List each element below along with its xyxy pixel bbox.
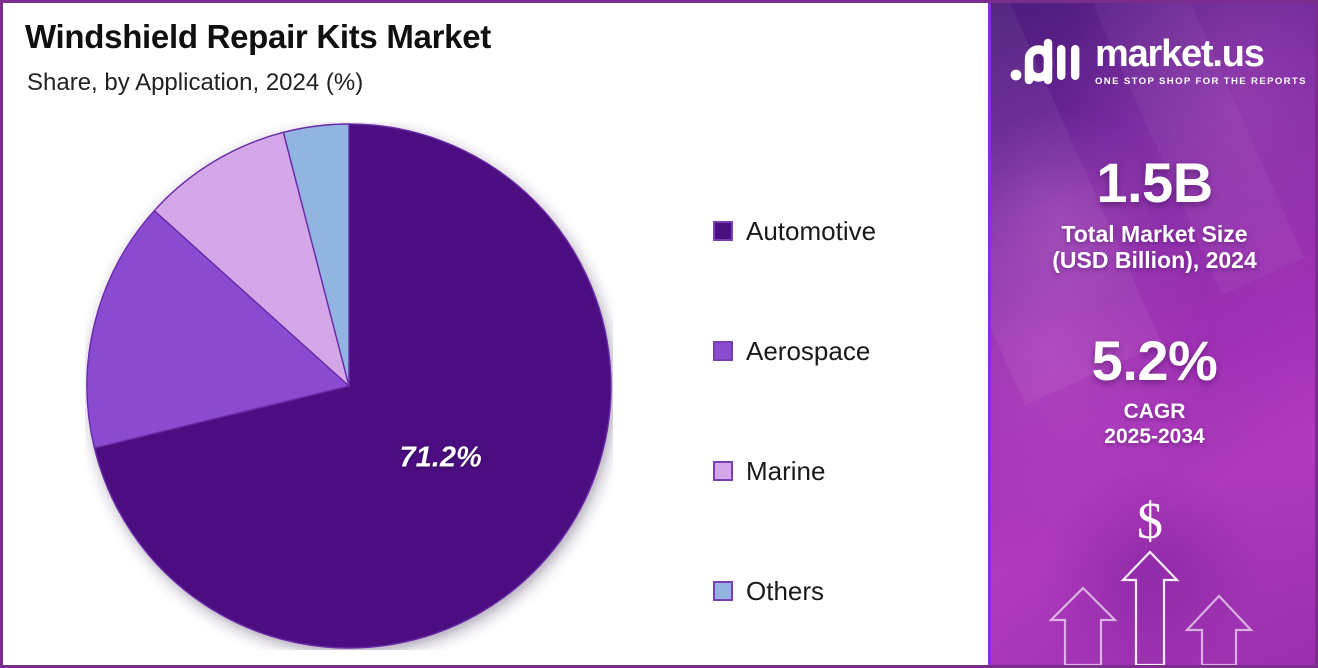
pie-chart: 71.2% (85, 122, 613, 650)
stat-caption-market-size: Total Market Size (USD Billion), 2024 (991, 221, 1315, 273)
stat-caption-cagr: CAGR 2025-2034 (991, 399, 1315, 449)
legend-item-aerospace[interactable]: Aerospace (713, 291, 973, 411)
legend-swatch-icon-others (713, 581, 733, 601)
stat-cagr: 5.2% CAGR 2025-2034 (991, 333, 1315, 449)
up-arrow-icon-right (1187, 596, 1251, 665)
pie-chart-svg (85, 122, 613, 650)
up-arrow-icon-center (1123, 552, 1177, 665)
brand-panel: market.us ONE STOP SHOP FOR THE REPORTS … (988, 3, 1315, 665)
up-arrow-icon-left (1051, 588, 1115, 665)
stat-value-cagr: 5.2% (991, 333, 1315, 389)
legend-swatch-icon-automotive (713, 221, 733, 241)
chart-legend: Automotive Aerospace Marine Others (713, 171, 973, 651)
legend-label-automotive: Automotive (746, 216, 876, 247)
page-title: Windshield Repair Kits Market (25, 18, 491, 56)
legend-item-others[interactable]: Others (713, 531, 973, 651)
brand-wordmark: market.us (1095, 35, 1307, 73)
brand-logo[interactable]: market.us ONE STOP SHOP FOR THE REPORTS (1009, 35, 1301, 87)
legend-item-automotive[interactable]: Automotive (713, 171, 973, 291)
infographic-page: Windshield Repair Kits Market Share, by … (0, 0, 1318, 668)
legend-label-aerospace: Aerospace (746, 336, 870, 367)
market-us-logo-icon (1009, 37, 1085, 85)
legend-swatch-icon-marine (713, 461, 733, 481)
stat-caption-line2: (USD Billion), 2024 (1052, 247, 1256, 273)
brand-text-block: market.us ONE STOP SHOP FOR THE REPORTS (1095, 35, 1307, 87)
stat-caption-line2: 2025-2034 (1104, 425, 1204, 448)
growth-arrows-art: $ (991, 480, 1315, 665)
brand-tagline: ONE STOP SHOP FOR THE REPORTS (1095, 76, 1307, 87)
pie-slices (87, 124, 611, 648)
legend-item-marine[interactable]: Marine (713, 411, 973, 531)
chart-panel: Windshield Repair Kits Market Share, by … (3, 3, 988, 665)
legend-swatch-icon-aerospace (713, 341, 733, 361)
stat-caption-line1: Total Market Size (1061, 221, 1247, 247)
chart-subtitle: Share, by Application, 2024 (%) (27, 69, 363, 97)
background-blob (1026, 473, 1276, 665)
legend-label-others: Others (746, 576, 824, 607)
legend-label-marine: Marine (746, 456, 825, 487)
stat-total-market-size: 1.5B Total Market Size (USD Billion), 20… (991, 155, 1315, 273)
dollar-sign-icon: $ (1137, 493, 1163, 550)
stat-value-market-size: 1.5B (991, 155, 1315, 211)
stat-caption-line1: CAGR (1124, 400, 1186, 423)
